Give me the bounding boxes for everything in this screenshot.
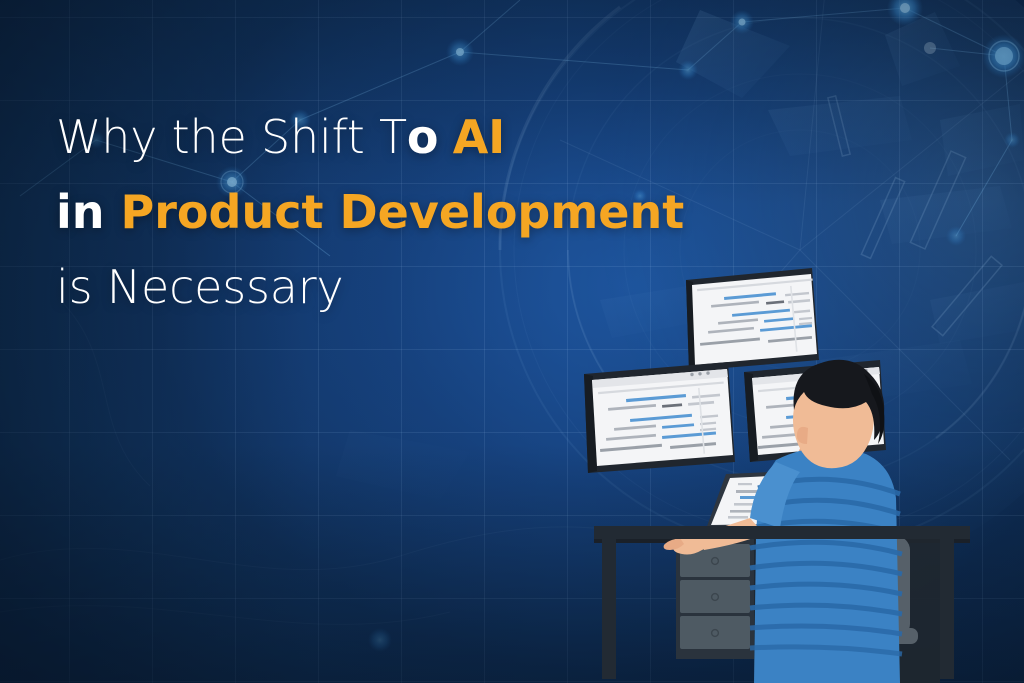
monitor-left	[584, 362, 735, 473]
desk-top-front-edge	[594, 526, 970, 539]
page-title: Why the Shift To AI in Product Developme…	[56, 100, 736, 325]
headline-line-3-part-1: is Necessary	[56, 260, 344, 314]
ai-product-development-banner: Why the Shift To AI in Product Developme…	[0, 0, 1024, 683]
headline-line-1: Why the Shift To AI	[56, 100, 736, 175]
headline-line-1-part-1: Why the Shift T	[56, 110, 407, 164]
headline-line-3: is Necessary	[56, 250, 736, 325]
headline-line-2-part-1: in	[56, 185, 105, 239]
headline-line-1-part-2: o	[407, 110, 438, 164]
headline-line-1-accent: AI	[453, 110, 505, 164]
headline-line-2: in Product Development	[56, 175, 736, 250]
headline-line-2-accent: Product Development	[121, 185, 685, 239]
desk-drawers	[680, 544, 750, 649]
